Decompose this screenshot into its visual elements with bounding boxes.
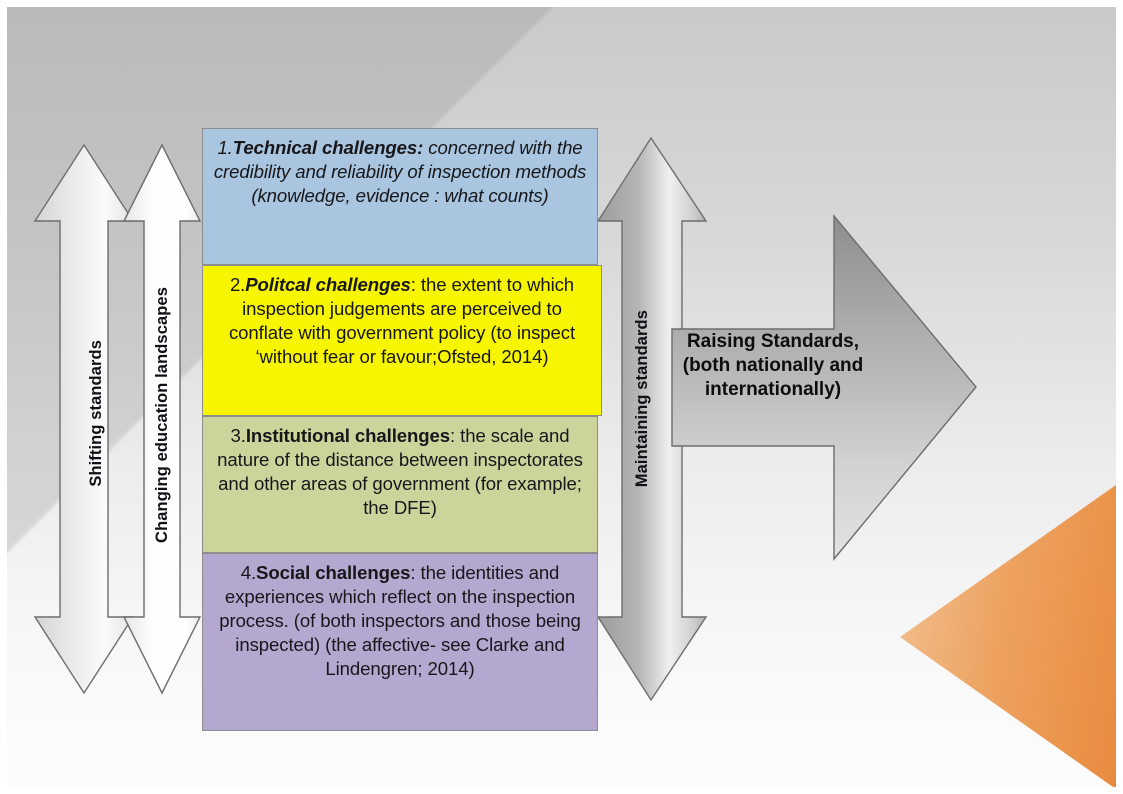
challenge-number-4: 4. bbox=[241, 562, 256, 583]
label-changing-education-landscapes: Changing education landscapes bbox=[153, 287, 172, 543]
challenge-box-institutional[interactable]: 3.Institutional challenges: the scale an… bbox=[202, 416, 598, 553]
challenge-heading-1: Technical challenges: bbox=[233, 137, 423, 158]
challenge-heading-2: Politcal challenges bbox=[245, 274, 411, 295]
raising-standards-label: Raising Standards,(both nationally and i… bbox=[678, 330, 868, 402]
label-shifting-standards: Shifting standards bbox=[87, 340, 106, 487]
challenge-number-2: 2. bbox=[230, 274, 245, 295]
challenges-stack: 1.Technical challenges: concerned with t… bbox=[202, 128, 598, 731]
challenge-number-1: 1. bbox=[217, 137, 232, 158]
label-maintaining-standards: Maintaining standards bbox=[633, 310, 652, 487]
challenge-heading-3: Institutional challenges bbox=[246, 425, 450, 446]
challenge-box-social[interactable]: 4.Social challenges: the identities and … bbox=[202, 553, 598, 731]
challenge-number-3: 3. bbox=[231, 425, 246, 446]
challenge-box-technical[interactable]: 1.Technical challenges: concerned with t… bbox=[202, 128, 598, 265]
raising-standards-arrow: Raising Standards,(both nationally and i… bbox=[664, 210, 984, 565]
challenge-heading-4: Social challenges bbox=[256, 562, 410, 583]
challenge-box-political[interactable]: 2.Politcal challenges: the extent to whi… bbox=[202, 265, 602, 416]
slide-canvas: Shifting standards Changing education la… bbox=[0, 0, 1123, 794]
